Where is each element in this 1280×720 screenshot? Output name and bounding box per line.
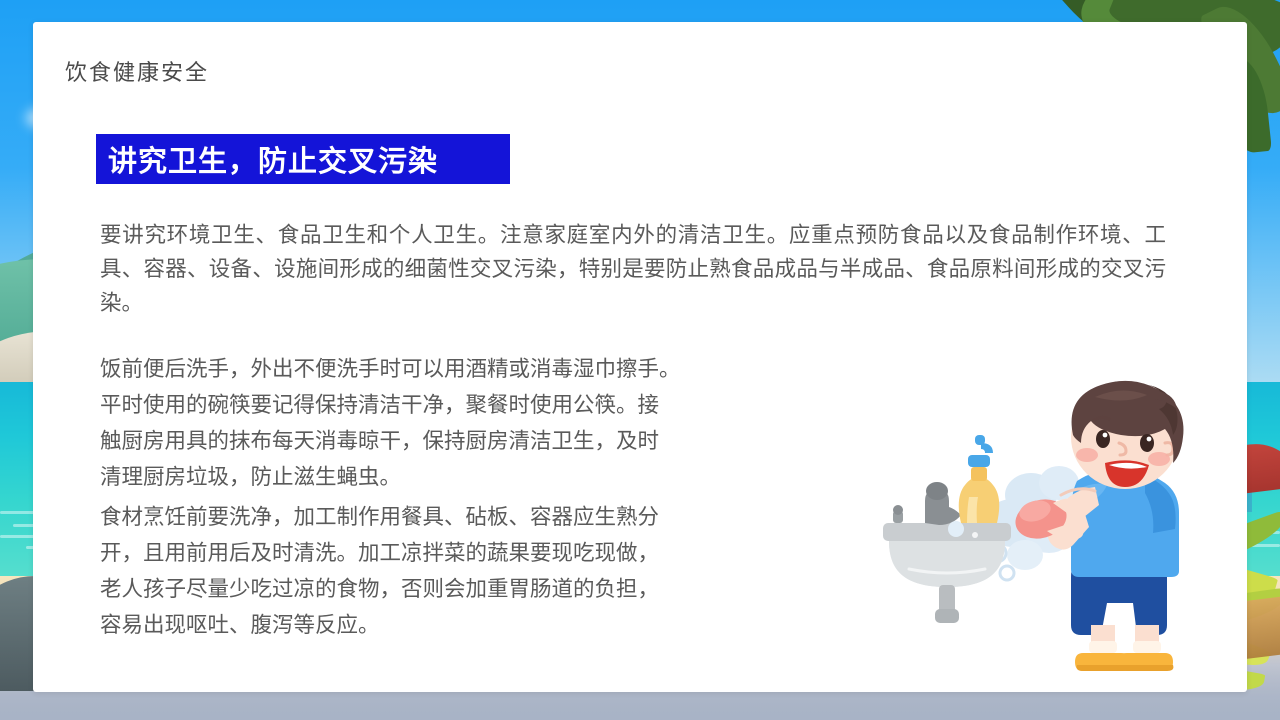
washing-hands-svg (863, 377, 1213, 677)
section-title-banner: 讲究卫生，防止交叉污染 (96, 134, 510, 184)
paragraph-line: 容易出现呕吐、腹泻等反应。 (100, 607, 780, 643)
paragraph-line: 清理厨房垃圾，防止滋生蝇虫。 (100, 459, 780, 495)
paragraph-line: 平时使用的碗筷要记得保持清洁干净，聚餐时使用公筷。接 (100, 387, 780, 423)
paragraph-line: 开，且用前用后及时清洗。加工凉拌菜的蔬果要现吃现做， (100, 535, 780, 571)
paragraph-food-prep: 食材烹饪前要洗净，加工制作用餐具、砧板、容器应生熟分 开，且用前用后及时清洗。加… (100, 499, 780, 643)
boy-head (1071, 381, 1183, 489)
page-eyebrow-title: 饮食健康安全 (65, 55, 209, 87)
soap-dispenser-icon (959, 435, 1000, 523)
paragraph-line: 触厨房用具的抹布每天消毒晾干，保持厨房清洁卫生，及时 (100, 423, 780, 459)
boy-lower-body (1071, 567, 1173, 671)
paragraph-handwashing: 饭前便后洗手，外出不便洗手时可以用酒精或消毒湿巾擦手。 平时使用的碗筷要记得保持… (100, 351, 780, 495)
illustration-boy-washing-hands (863, 377, 1213, 677)
paragraph-line: 食材烹饪前要洗净，加工制作用餐具、砧板、容器应生熟分 (100, 499, 780, 535)
paragraph-intro: 要讲究环境卫生、食品卫生和个人卫生。注意家庭室内外的清洁卫生。应重点预防食品以及… (100, 218, 1166, 320)
section-title-text: 讲究卫生，防止交叉污染 (96, 138, 438, 180)
paragraph-line: 饭前便后洗手，外出不便洗手时可以用酒精或消毒湿巾擦手。 (100, 351, 780, 387)
paragraph-line: 老人孩子尽量少吃过凉的食物，否则会加重胃肠道的负担， (100, 571, 780, 607)
content-card: 饮食健康安全 讲究卫生，防止交叉污染 要讲究环境卫生、食品卫生和个人卫生。注意家… (33, 22, 1247, 692)
